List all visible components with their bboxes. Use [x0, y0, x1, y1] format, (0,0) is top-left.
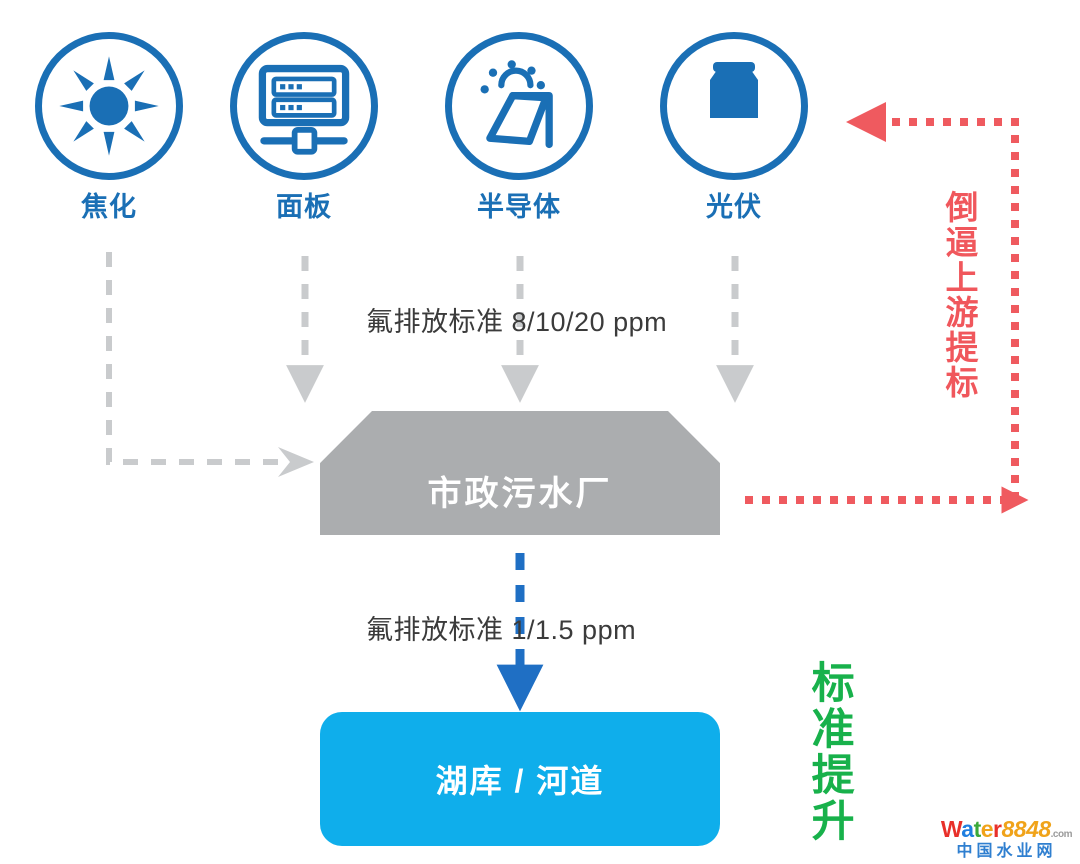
source-node-photovoltaic[interactable]: 光伏	[659, 32, 809, 221]
source-label-panel: 面板	[229, 194, 379, 221]
source-circle-panel	[230, 32, 378, 180]
solar-wafer-icon	[467, 54, 571, 158]
feedback-loop-upstream	[862, 122, 1015, 500]
diagram-canvas: 焦化 面板	[0, 0, 1080, 864]
watermark-wordmark: Water8848.com	[941, 818, 1072, 841]
receiving-waterbody[interactable]: 湖库 / 河道	[320, 712, 720, 846]
sun-icon	[55, 52, 163, 160]
callout-upstream-pressure: 倒逼上游提标	[940, 190, 977, 400]
plant-label: 市政污水厂	[428, 466, 613, 515]
source-label-coking: 焦化	[34, 194, 184, 221]
watermark-digits: 8848	[1001, 816, 1050, 842]
watermark-letter-w: W	[941, 816, 961, 842]
source-circle-coking	[35, 32, 183, 180]
annotation-upstream-standard: 氟排放标准 8/10/20 ppm	[366, 300, 667, 339]
flow-coking-to-plant	[109, 252, 296, 462]
source-node-semiconductor[interactable]: 半导体	[444, 32, 594, 221]
display-panel-icon	[252, 54, 356, 158]
site-watermark: Water8848.com 中国水业网	[941, 818, 1072, 860]
transistor-icon	[684, 56, 784, 156]
source-circle-photovoltaic	[660, 32, 808, 180]
source-node-coking[interactable]: 焦化	[34, 32, 184, 221]
watermark-chinese: 中国水业网	[941, 844, 1072, 860]
source-circle-semiconductor	[445, 32, 593, 180]
annotation-downstream-standard: 氟排放标准 1/1.5 ppm	[366, 608, 636, 647]
watermark-tld: .com	[1051, 829, 1072, 840]
watermark-letter-t: t	[974, 816, 981, 842]
source-label-photovoltaic: 光伏	[659, 194, 809, 221]
municipal-wastewater-plant[interactable]: 市政污水厂	[320, 411, 720, 535]
callout-standard-upgrade: 标准提升	[805, 660, 853, 844]
waterbody-label: 湖库 / 河道	[436, 756, 605, 802]
watermark-letter-a: a	[961, 816, 973, 842]
source-node-panel[interactable]: 面板	[229, 32, 379, 221]
watermark-letter-e: e	[981, 816, 993, 842]
source-label-semiconductor: 半导体	[444, 194, 594, 221]
